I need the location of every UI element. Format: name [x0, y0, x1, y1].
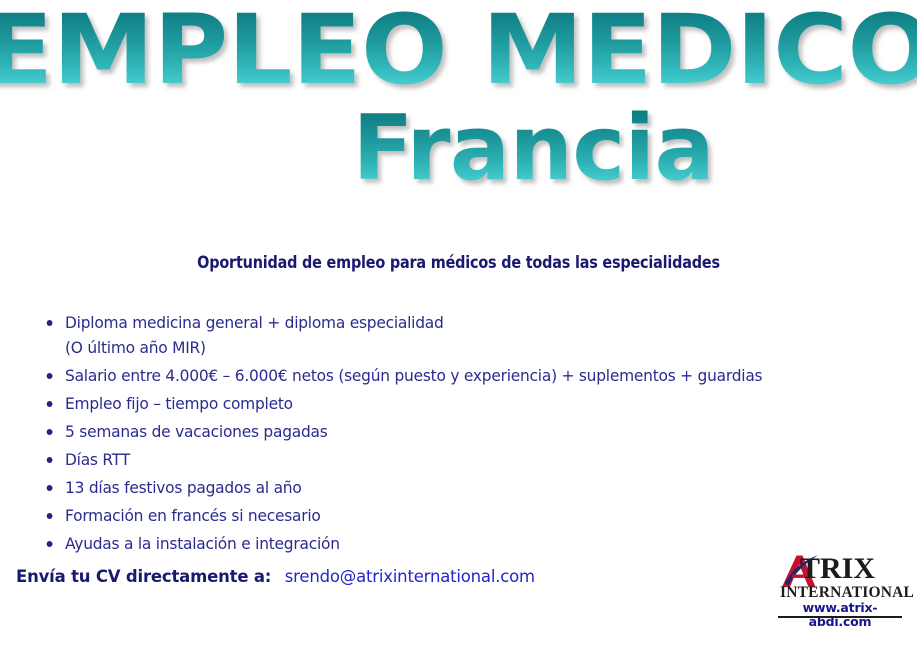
- poster-canvas: EMPLEO MÉDICO Francia Oportunidad de emp…: [0, 0, 917, 668]
- contact-line: Envía tu CV directamente a:srendo@atrixi…: [16, 567, 535, 587]
- headline-line-2: Francia: [29, 108, 917, 191]
- list-item: Salario entre 4.000€ – 6.000€ netos (seg…: [38, 363, 849, 388]
- atrix-website-url[interactable]: www.atrix-abdi.com: [780, 601, 900, 629]
- contact-lead-label: Envía tu CV directamente a:: [16, 567, 271, 587]
- list-item: 13 días festivos pagados al año: [38, 475, 849, 500]
- headline-line-1: EMPLEO MÉDICO: [0, 6, 917, 94]
- list-item: Empleo fijo – tiempo completo: [38, 391, 849, 416]
- contact-email-link[interactable]: srendo@atrixinternational.com: [285, 567, 535, 587]
- list-item: Diploma medicina general + diploma espec…: [38, 310, 849, 360]
- atrix-subline: INTERNATIONAL: [780, 585, 900, 601]
- list-item: Días RTT: [38, 447, 849, 472]
- logo-divider: [778, 616, 902, 618]
- poster-headline: EMPLEO MÉDICO Francia: [0, 6, 917, 191]
- list-item: Ayudas a la instalación e integración: [38, 531, 849, 556]
- atrix-wordmark: TRIX: [800, 554, 875, 584]
- benefits-list: Diploma medicina general + diploma espec…: [38, 310, 878, 559]
- atrix-logo: TRIX INTERNATIONAL www.atrix-abdi.com: [776, 552, 904, 622]
- headline-line-1-wrapper: EMPLEO MÉDICO: [0, 6, 917, 94]
- list-item: 5 semanas de vacaciones pagadas: [38, 419, 849, 444]
- poster-subtitle: Oportunidad de empleo para médicos de to…: [14, 253, 903, 272]
- headline-line-2-wrapper: Francia: [0, 108, 917, 191]
- list-item: Formación en francés si necesario: [38, 503, 849, 528]
